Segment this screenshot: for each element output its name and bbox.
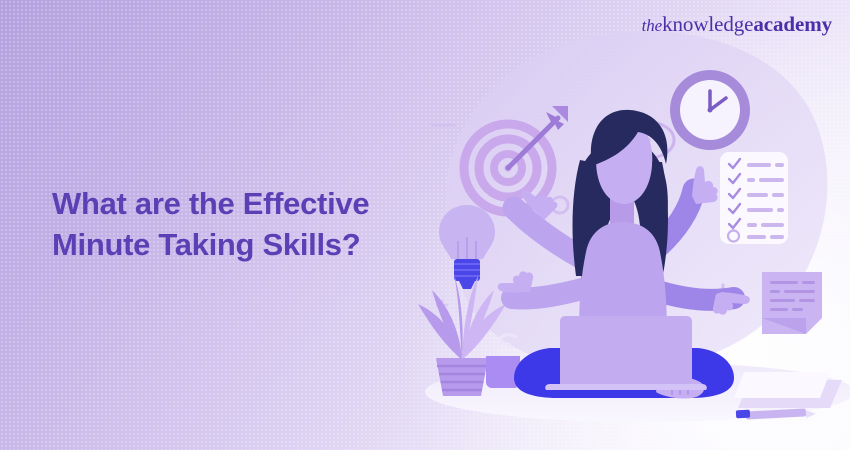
banner: theknowledgeacademy What are the Effecti…	[0, 0, 850, 450]
logo-academy: academy	[753, 12, 832, 36]
laptop-icon	[545, 316, 707, 390]
logo-knowledge: knowledge	[662, 12, 753, 36]
hero-illustration	[390, 0, 850, 450]
brand-logo[interactable]: theknowledgeacademy	[642, 14, 832, 35]
pencil-icon	[736, 408, 816, 419]
checklist-card-icon	[720, 152, 788, 244]
wall-clock-icon	[670, 70, 750, 150]
sticky-note-icon	[762, 272, 822, 334]
logo-the: the	[642, 16, 662, 35]
page-title: What are the Effective Minute Taking Ski…	[52, 184, 432, 266]
paper-sheet-icon	[734, 372, 842, 408]
